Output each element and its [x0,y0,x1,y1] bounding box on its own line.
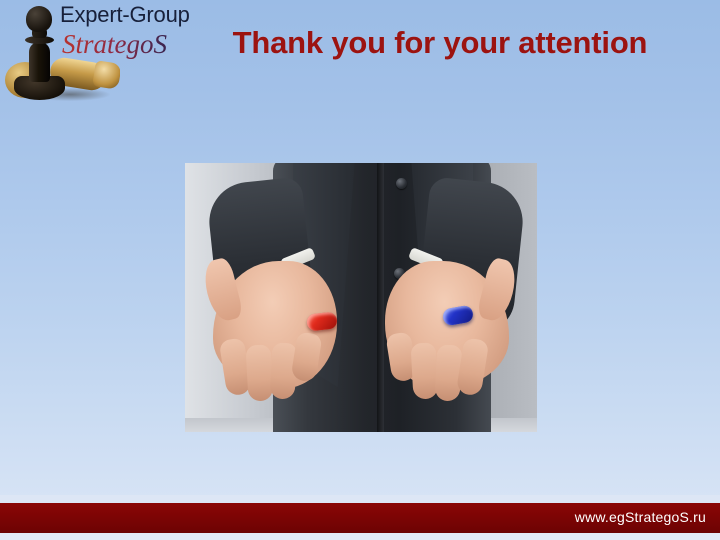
red-pill-blue-pill-photo [185,163,537,432]
slide-title: Thank you for your attention [230,22,650,63]
suit-button-top [396,178,407,189]
dark-chess-piece-body [29,42,50,82]
presentation-slide: Expert-Group StrategoS Thank you for you… [0,0,720,540]
company-logo: Expert-Group StrategoS [0,0,215,110]
finger [246,344,274,401]
dark-chess-piece-head [26,6,52,32]
logo-text: Expert-Group StrategoS [60,2,215,60]
footer-website-url[interactable]: www.egStrategoS.ru [575,509,706,525]
finger [411,342,439,399]
logo-brand-name: StrategoS [62,29,215,60]
footer-bar: www.egStrategoS.ru [0,503,720,533]
logo-company-name: Expert-Group [60,2,215,28]
footer-top-margin [0,495,720,503]
footer-bottom-margin [0,533,720,540]
golden-chess-piece-crown [92,60,120,90]
suit-placket [377,163,384,432]
